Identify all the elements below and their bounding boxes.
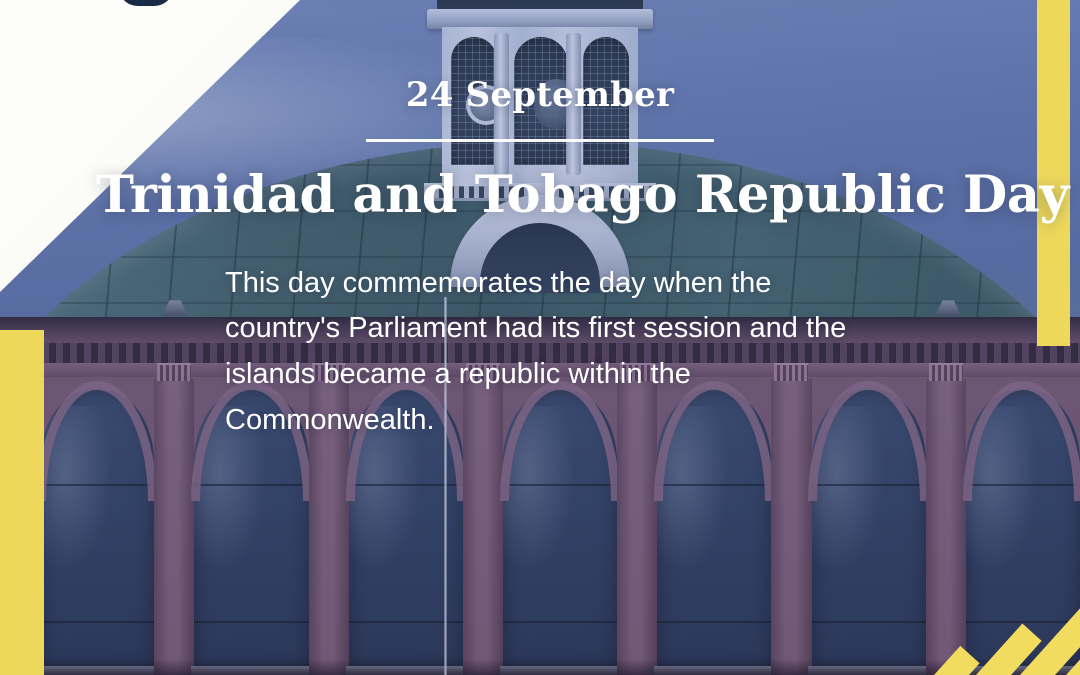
- title-divider-rule: [366, 139, 714, 142]
- poster-description: This day commemorates the day when the c…: [225, 261, 865, 444]
- republic-day-poster: 24 September Trinidad and Tobago Republi…: [0, 0, 1080, 675]
- poster-title: Trinidad and Tobago Republic Day: [96, 169, 984, 223]
- poster-content: 24 September Trinidad and Tobago Republi…: [0, 0, 1080, 473]
- observance-date: 24 September: [96, 78, 984, 112]
- description-block: This day commemorates the day when the c…: [215, 261, 865, 444]
